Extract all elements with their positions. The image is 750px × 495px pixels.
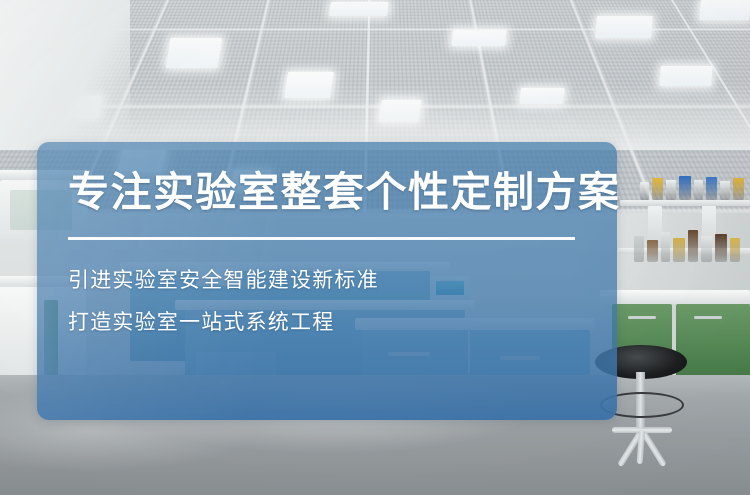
page-title: 专注实验室整套个性定制方案 — [68, 172, 621, 213]
subtitle-line-2: 打造实验室一站式系统工程 — [68, 312, 334, 333]
title-divider — [68, 237, 575, 240]
lab-banner: 专注实验室整套个性定制方案 引进实验室安全智能建设新标准 打造实验室一站式系统工… — [0, 0, 750, 495]
subtitle-line-1: 引进实验室安全智能建设新标准 — [68, 270, 379, 291]
overlay-panel: 专注实验室整套个性定制方案 引进实验室安全智能建设新标准 打造实验室一站式系统工… — [37, 142, 617, 420]
overlay-content: 专注实验室整套个性定制方案 引进实验室安全智能建设新标准 打造实验室一站式系统工… — [37, 142, 617, 420]
